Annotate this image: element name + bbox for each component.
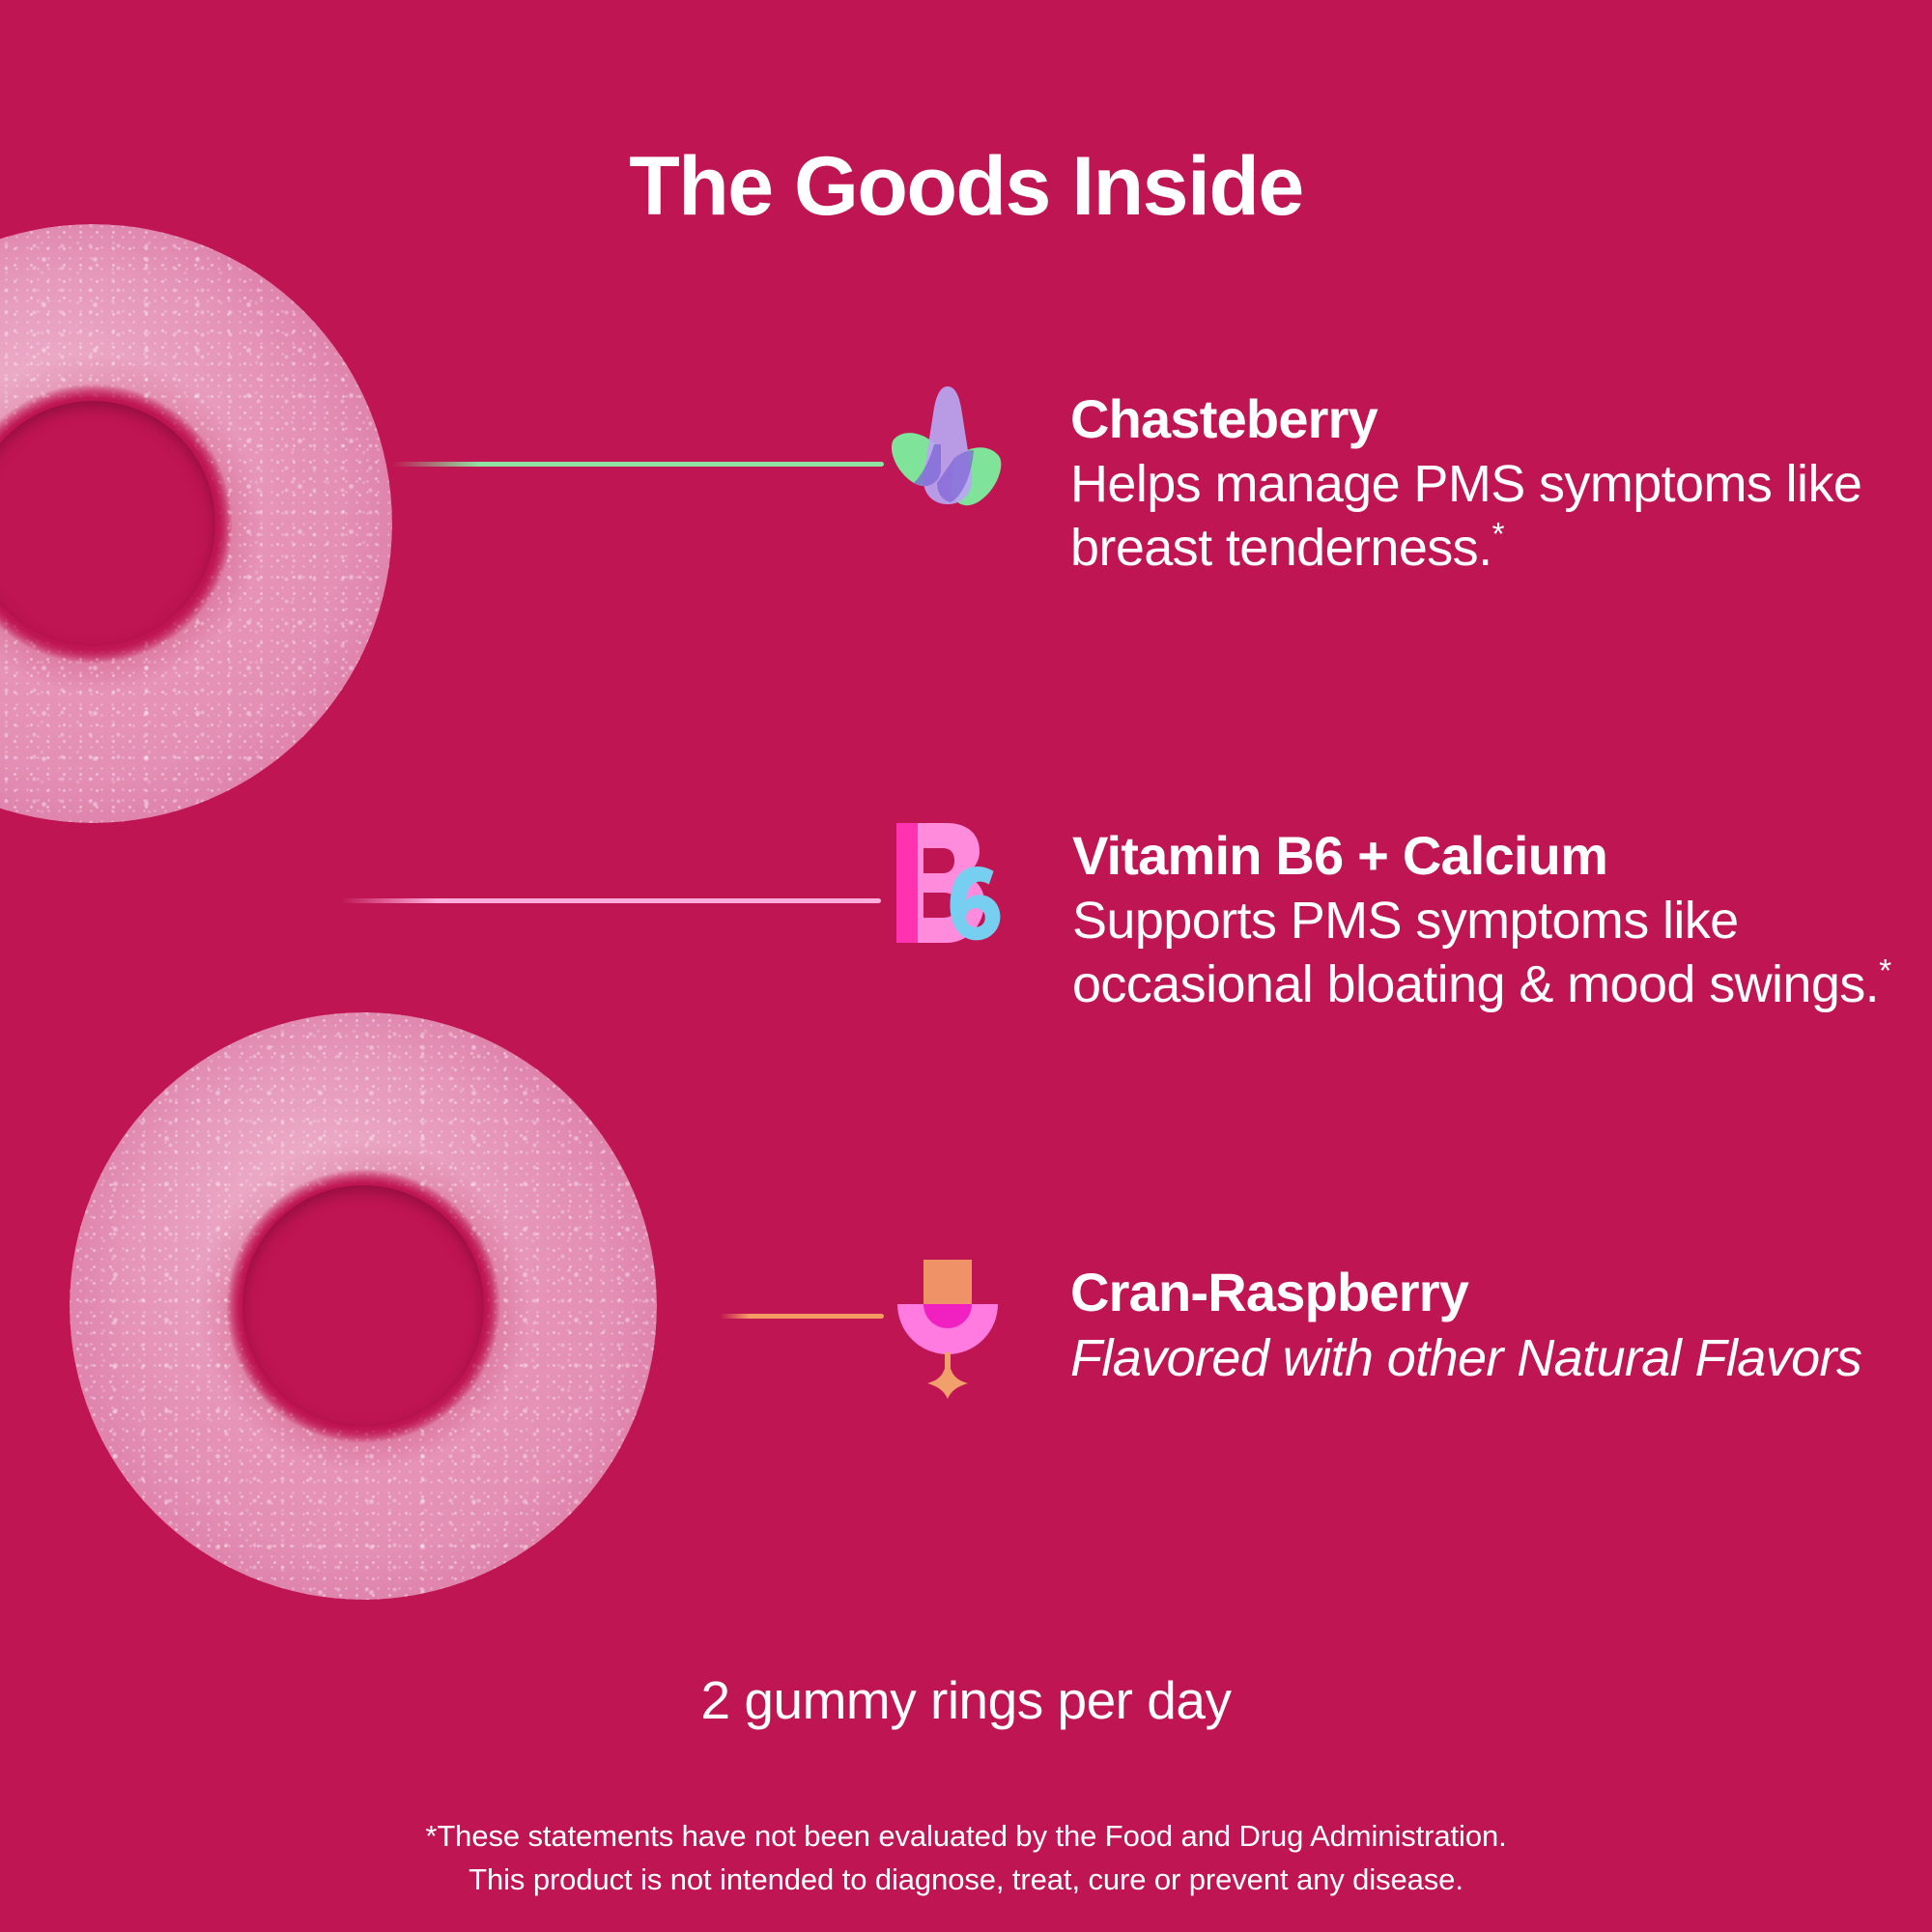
ingredient-description: Supports PMS symptoms like occasional bl… xyxy=(1072,890,1932,1015)
description-text: Helps manage PMS symptoms like breast te… xyxy=(1070,455,1861,577)
page-title: The Goods Inside xyxy=(0,145,1932,228)
ingredient-description: Helps manage PMS symptoms like breast te… xyxy=(1070,453,1932,579)
gummy-ring-image-top xyxy=(0,224,392,823)
ingredient-title: Chasteberry xyxy=(1070,390,1932,447)
ingredient-row-chasteberry: Chasteberry Helps manage PMS symptoms li… xyxy=(891,383,1932,580)
ingredient-row-vitamin-b6: Vitamin B6 + Calcium Supports PMS sympto… xyxy=(891,819,1932,1016)
chasteberry-sprig-icon xyxy=(891,383,1005,514)
disclaimer-line-1: *These statements have not been evaluate… xyxy=(0,1814,1932,1858)
ingredient-title: Vitamin B6 + Calcium xyxy=(1072,827,1932,884)
asterisk-marker: * xyxy=(1492,517,1503,553)
disclaimer-line-2: This product is not intended to diagnose… xyxy=(0,1858,1932,1901)
asterisk-marker: * xyxy=(1879,953,1890,989)
description-text: Flavored with other Natural Flavors xyxy=(1070,1329,1861,1387)
connector-line-vitamin-b6 xyxy=(340,898,881,903)
vitamin-b6-icon xyxy=(891,819,1007,947)
icon-wrap-cran-raspberry xyxy=(891,1256,1005,1404)
connector-line-cran-raspberry xyxy=(720,1314,884,1319)
ingredient-title: Cran-Raspberry xyxy=(1070,1264,1861,1321)
ingredient-text-vitamin-b6: Vitamin B6 + Calcium Supports PMS sympto… xyxy=(1072,827,1932,1016)
ingredient-description: Flavored with other Natural Flavors xyxy=(1070,1326,1861,1390)
icon-wrap-vitamin-b6 xyxy=(891,819,1007,952)
gummy-center-hole xyxy=(242,1185,483,1426)
gummy-ring-image-bottom xyxy=(70,1012,657,1600)
dosage-text: 2 gummy rings per day xyxy=(0,1669,1932,1731)
cran-raspberry-flavor-icon xyxy=(891,1256,1005,1399)
ingredient-row-cran-raspberry: Cran-Raspberry Flavored with other Natur… xyxy=(891,1256,1861,1404)
disclaimer-text: *These statements have not been evaluate… xyxy=(0,1814,1932,1902)
description-text: Supports PMS symptoms like occasional bl… xyxy=(1072,892,1879,1013)
ingredient-text-chasteberry: Chasteberry Helps manage PMS symptoms li… xyxy=(1070,390,1932,580)
ingredient-text-cran-raspberry: Cran-Raspberry Flavored with other Natur… xyxy=(1070,1264,1861,1390)
connector-line-chasteberry xyxy=(391,462,884,467)
infographic-canvas: The Goods Inside xyxy=(0,0,1932,1932)
icon-wrap-chasteberry xyxy=(891,383,1005,519)
